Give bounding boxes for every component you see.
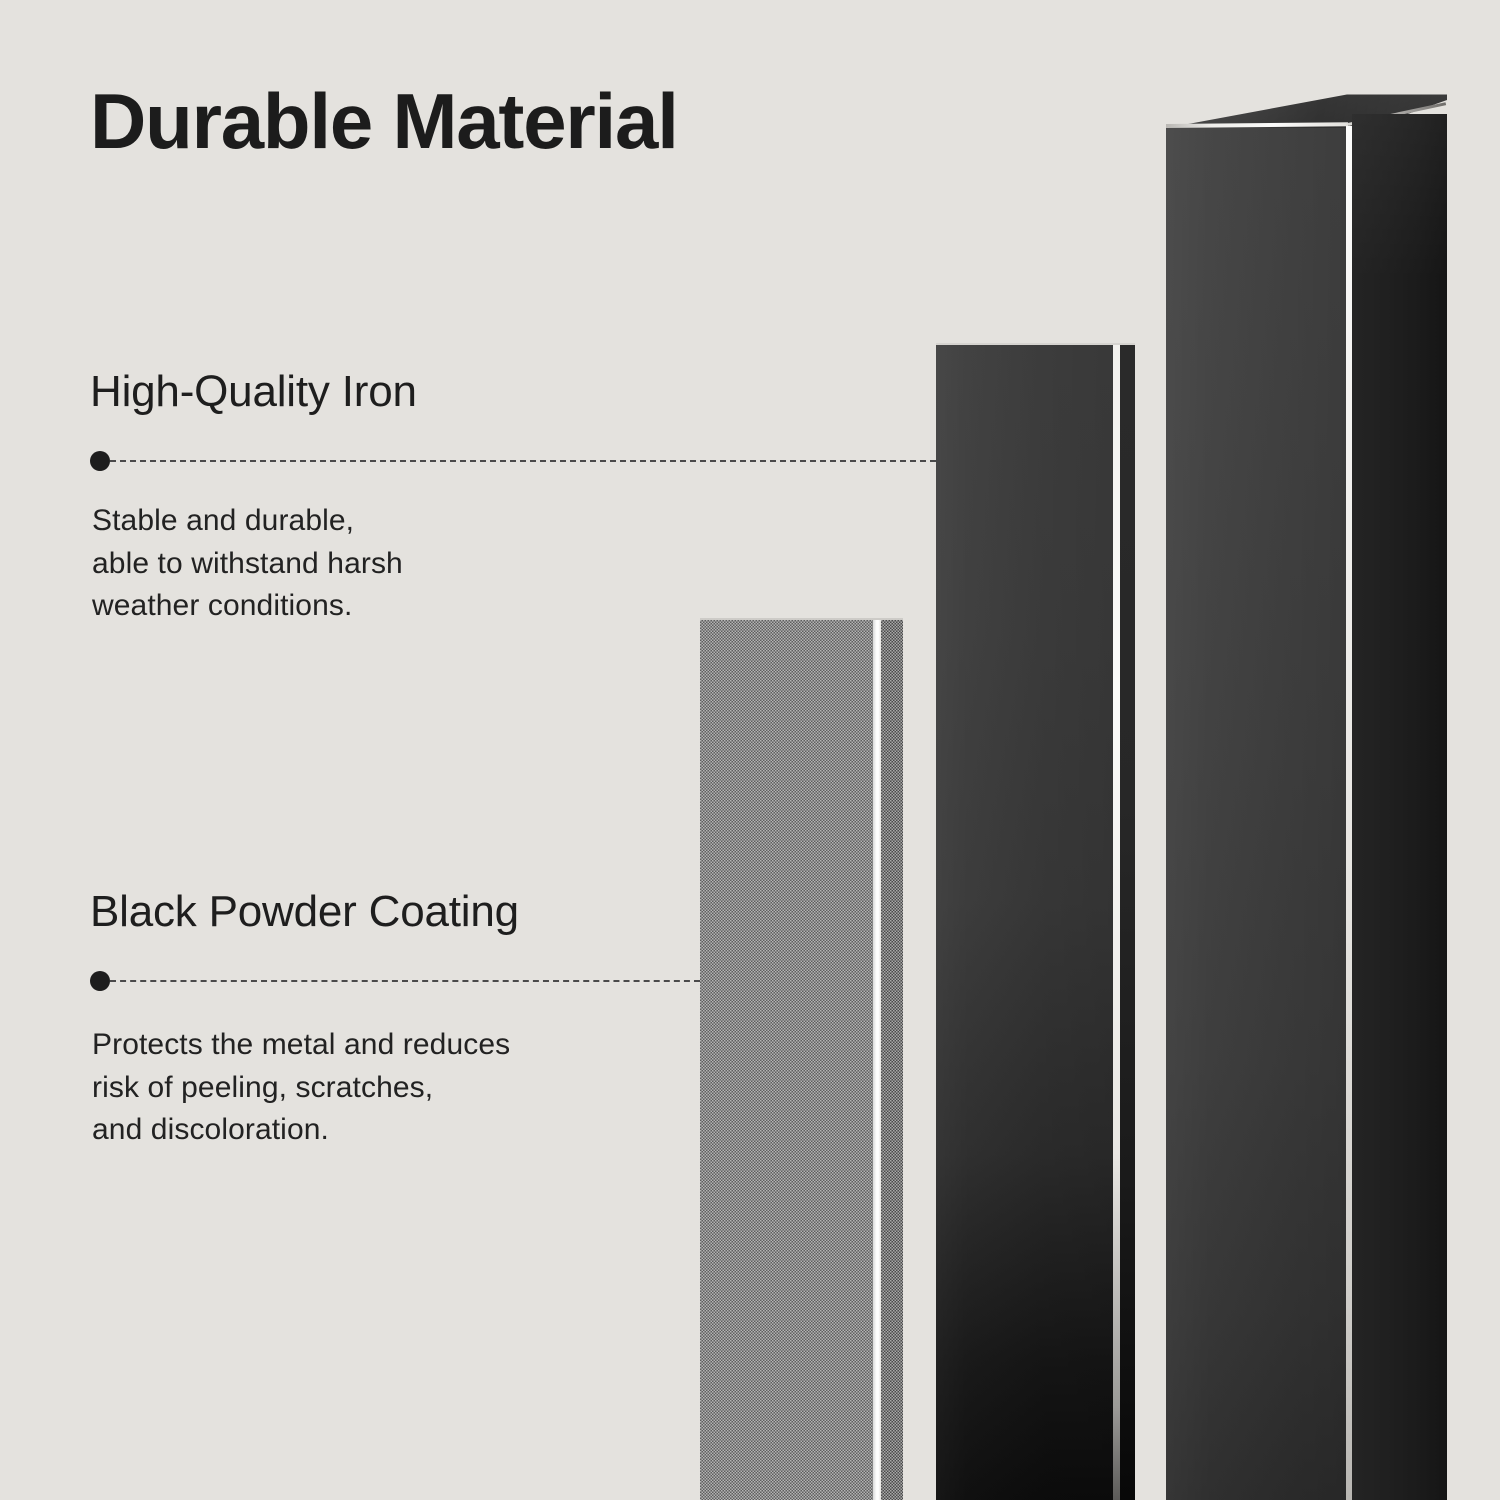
feature-body-high-quality-iron: Stable and durable, able to withstand ha… — [92, 500, 403, 628]
callout-dot-icon — [90, 971, 110, 991]
callout-leader-black-powder-coating — [90, 970, 700, 992]
callout-dashed-line — [110, 460, 936, 462]
feature-heading-black-powder-coating: Black Powder Coating — [90, 888, 519, 936]
feature-heading-high-quality-iron: High-Quality Iron — [90, 368, 417, 416]
feature-block-black-powder-coating: Black Powder Coating — [90, 888, 519, 936]
callout-leader-high-quality-iron — [90, 450, 936, 472]
page-title: Durable Material — [90, 82, 678, 160]
callout-dashed-line — [110, 980, 700, 982]
callout-dot-icon — [90, 451, 110, 471]
feature-body-black-powder-coating: Protects the metal and reduces risk of p… — [92, 1024, 510, 1152]
text-content-group: Durable Material High-Quality Iron Stabl… — [0, 0, 1500, 1500]
infographic-canvas: Durable Material High-Quality Iron Stabl… — [0, 0, 1500, 1500]
feature-block-high-quality-iron: High-Quality Iron — [90, 368, 417, 416]
